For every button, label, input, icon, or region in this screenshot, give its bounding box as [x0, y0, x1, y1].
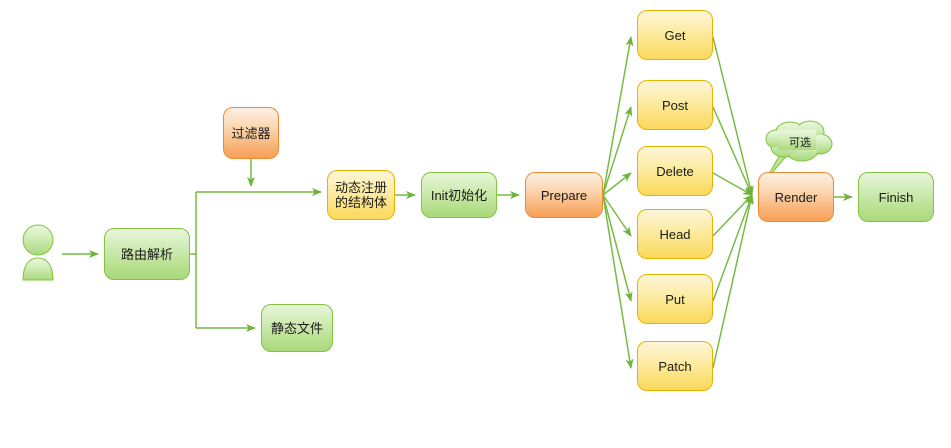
node-route-parse-label: 路由解析 — [118, 247, 176, 262]
node-finish[interactable]: Finish — [858, 172, 934, 222]
node-init[interactable]: Init初始化 — [421, 172, 497, 218]
node-post[interactable]: Post — [637, 80, 713, 130]
node-get-label: Get — [662, 28, 689, 43]
edge-prepare-get — [603, 37, 631, 195]
edge-prepare-post — [603, 107, 631, 195]
edge-get-render — [713, 37, 752, 195]
node-static-file-label: 静态文件 — [268, 321, 326, 336]
node-prepare[interactable]: Prepare — [525, 172, 603, 218]
node-route-parse[interactable]: 路由解析 — [104, 228, 190, 280]
edge-delete-render — [713, 173, 752, 195]
node-static-file[interactable]: 静态文件 — [261, 304, 333, 352]
node-filter[interactable]: 过滤器 — [223, 107, 279, 159]
optional-note-label: 可选 — [780, 134, 820, 150]
node-dynamic-struct-label: 动态注册 的结构体 — [332, 180, 390, 210]
flowchart-canvas: 可选 路由解析 过滤器 静态文件 动态注册 的结构体 Init初始化 Prepa… — [0, 0, 951, 448]
node-patch-label: Patch — [655, 359, 694, 374]
edge-prepare-patch — [603, 195, 631, 368]
node-patch[interactable]: Patch — [637, 341, 713, 391]
node-delete[interactable]: Delete — [637, 146, 713, 196]
node-finish-label: Finish — [876, 190, 917, 205]
node-render[interactable]: Render — [758, 172, 834, 222]
edge-prepare-delete — [603, 173, 631, 195]
edge-post-render — [713, 107, 752, 195]
edge-patch-render — [713, 195, 752, 368]
node-init-label: Init初始化 — [428, 188, 490, 203]
edge-put-render — [713, 195, 752, 301]
node-head-label: Head — [656, 227, 693, 242]
edge-prepare-put — [603, 195, 631, 301]
user-actor — [23, 225, 53, 280]
node-get[interactable]: Get — [637, 10, 713, 60]
node-filter-label: 过滤器 — [228, 126, 273, 141]
node-put-label: Put — [662, 292, 688, 307]
node-dynamic-struct[interactable]: 动态注册 的结构体 — [327, 170, 395, 220]
node-prepare-label: Prepare — [538, 188, 590, 203]
edge-head-render — [713, 195, 752, 236]
node-render-label: Render — [772, 190, 821, 205]
node-post-label: Post — [659, 98, 691, 113]
edge-prepare-head — [603, 195, 631, 236]
node-head[interactable]: Head — [637, 209, 713, 259]
node-delete-label: Delete — [653, 164, 697, 179]
edge-layer — [0, 0, 951, 448]
node-put[interactable]: Put — [637, 274, 713, 324]
